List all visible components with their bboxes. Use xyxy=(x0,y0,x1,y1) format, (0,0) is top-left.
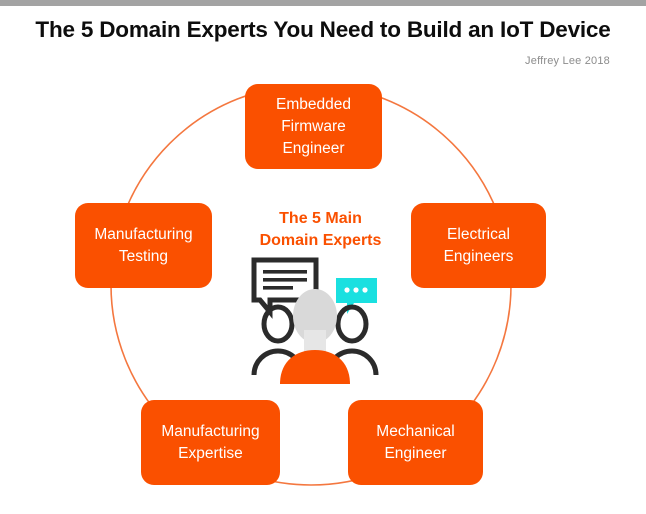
center-label: The 5 Main Domain Experts xyxy=(233,208,408,251)
people-discussion-illustration xyxy=(246,256,386,386)
node-manufacturing-testing[interactable]: Manufacturing Testing xyxy=(75,203,212,288)
slide-canvas: The 5 Domain Experts You Need to Build a… xyxy=(0,0,646,514)
node-embedded-firmware-engineer[interactable]: Embedded Firmware Engineer xyxy=(245,84,382,169)
node-label: Manufacturing Testing xyxy=(94,224,192,268)
node-label: Manufacturing Expertise xyxy=(161,421,259,465)
node-label: Embedded Firmware Engineer xyxy=(276,94,351,160)
node-mechanical-engineer[interactable]: Mechanical Engineer xyxy=(348,400,483,485)
node-label: Electrical Engineers xyxy=(444,224,514,268)
node-electrical-engineers[interactable]: Electrical Engineers xyxy=(411,203,546,288)
node-manufacturing-expertise[interactable]: Manufacturing Expertise xyxy=(141,400,280,485)
node-label: Mechanical Engineer xyxy=(376,421,454,465)
